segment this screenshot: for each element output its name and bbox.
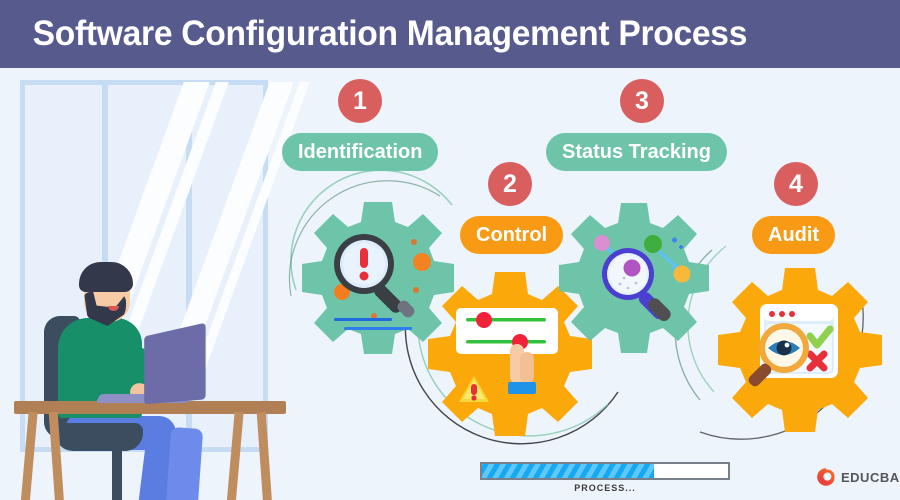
person-lower-leg-right xyxy=(165,427,203,500)
gear-audit xyxy=(714,264,886,436)
chair-post xyxy=(112,446,122,500)
cross-icon xyxy=(810,354,824,368)
progress-block: PROCESS... xyxy=(480,462,730,493)
progress-label: PROCESS... xyxy=(480,483,730,493)
infographic-canvas: Software Configuration Management Proces… xyxy=(0,0,900,500)
laptop-screen xyxy=(144,323,205,405)
step-pill-status-tracking[interactable]: Status Tracking xyxy=(546,133,727,171)
step-badge-2: 2 xyxy=(488,162,532,206)
progress-bar-track[interactable] xyxy=(480,462,730,480)
step-badge-3: 3 xyxy=(620,79,664,123)
progress-bar-fill xyxy=(482,464,654,478)
step-pill-audit[interactable]: Audit xyxy=(752,216,835,254)
page-title: Software Configuration Management Proces… xyxy=(0,14,747,54)
desk-leg-far-right xyxy=(257,412,277,500)
step-badge-1: 1 xyxy=(338,79,382,123)
chair-seat xyxy=(55,423,143,451)
educba-play-circle-icon xyxy=(816,467,836,487)
step-pill-control[interactable]: Control xyxy=(460,216,563,254)
desk-leg-far-left xyxy=(15,412,37,500)
person-eye-right xyxy=(119,286,123,291)
step-pill-identification[interactable]: Identification xyxy=(282,133,438,171)
sliders-panel-icon xyxy=(456,308,558,354)
educba-logo[interactable]: EDUCBA xyxy=(816,467,900,487)
person-eye-left xyxy=(106,286,110,291)
illustration-man-at-desk xyxy=(0,68,300,500)
gear-status-tracking xyxy=(554,198,714,358)
educba-logo-text: EDUCBA xyxy=(841,470,900,485)
header-bar: Software Configuration Management Proces… xyxy=(0,0,900,68)
step-badge-4: 4 xyxy=(774,162,818,206)
